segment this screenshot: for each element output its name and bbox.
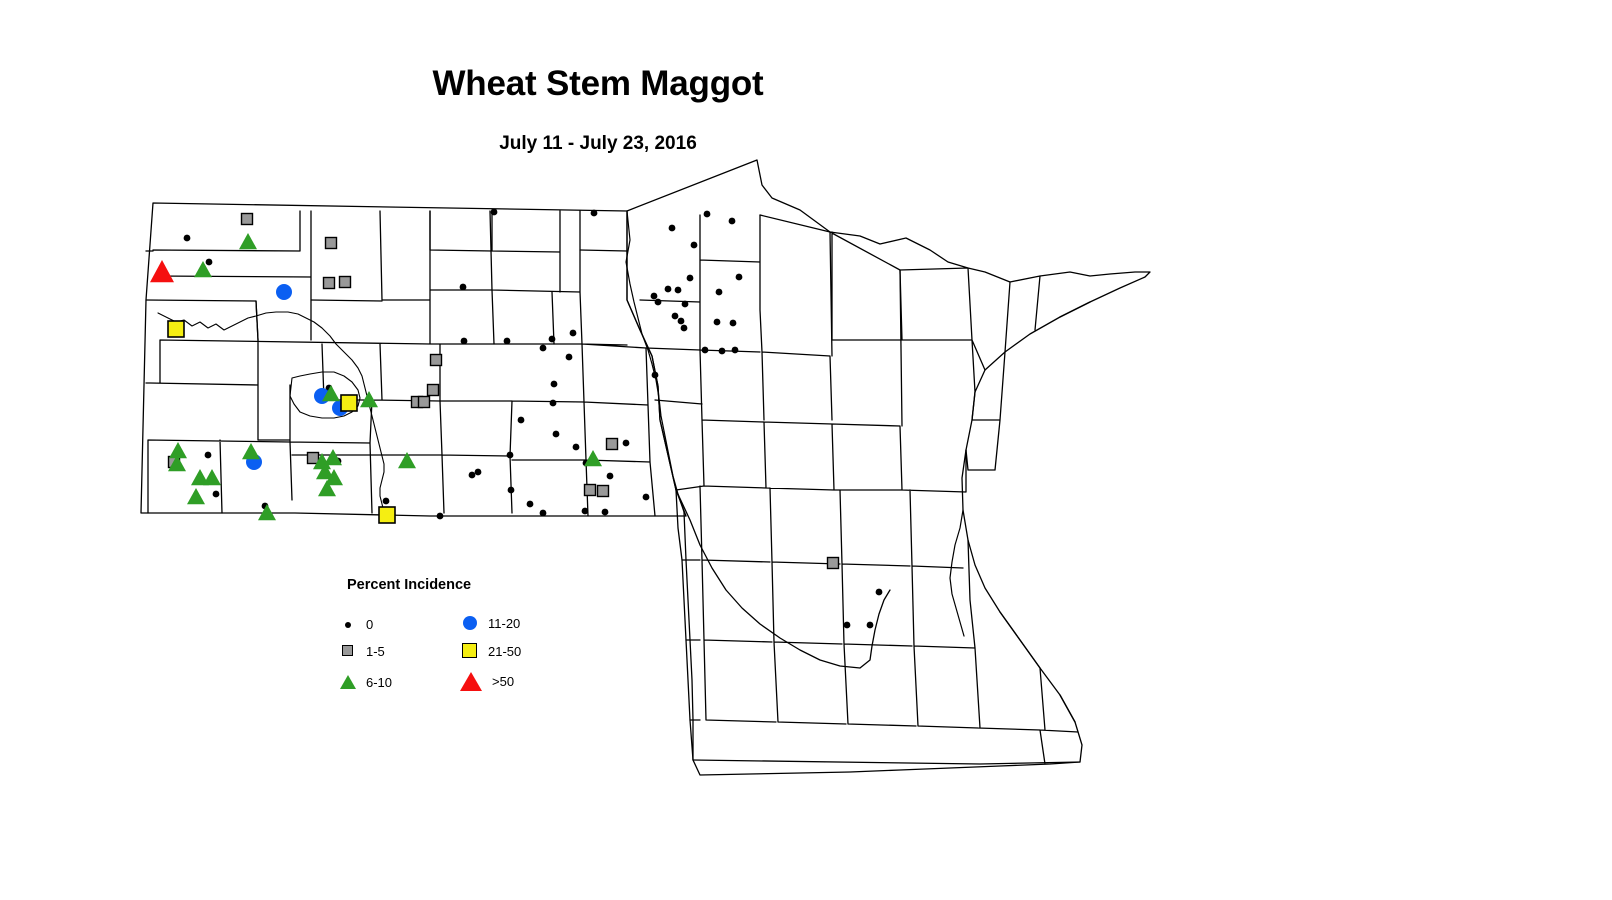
map-marker-gray-square [340,277,351,288]
map-marker-black-dot [437,513,444,520]
map-marker-green-triangle [324,449,342,465]
map-marker-green-triangle [242,443,260,459]
mn-county-lines [640,215,1080,764]
map-marker-black-dot [540,345,547,352]
legend: Percent Incidence 0 1-5 6-10 11-20 21-50… [330,572,590,702]
map-marker-gray-square [324,278,335,289]
map-marker-green-triangle [187,488,205,504]
map-marker-black-dot [681,325,688,332]
map-marker-gray-square [326,238,337,249]
map-marker-black-dot [714,319,721,326]
map-marker-black-dot [682,301,689,308]
map-marker-black-dot [719,348,726,355]
map-marker-black-dot [702,347,709,354]
map-marker-green-triangle [584,450,602,466]
map-marker-gray-square [428,385,439,396]
map-marker-yellow-square [168,321,184,337]
map-marker-black-dot [205,452,212,459]
blue-circle-icon [460,614,482,634]
map-marker-black-dot [736,274,743,281]
map-marker-black-dot [675,287,682,294]
map-marker-gray-square [585,485,596,496]
map-marker-black-dot [876,589,883,596]
map-marker-black-dot [475,469,482,476]
map-marker-black-dot [540,510,547,517]
map-marker-black-dot [206,259,213,266]
map-page: Wheat Stem Maggot July 11 - July 23, 201… [0,0,1612,900]
gray-square-icon [338,642,360,662]
map-marker-black-dot [691,242,698,249]
map-marker-black-dot [652,372,659,379]
map-marker-black-dot [553,431,560,438]
map-marker-black-dot [687,275,694,282]
map-marker-black-dot [643,494,650,501]
mn-north-county-lines [760,215,1005,470]
map-marker-black-dot [672,313,679,320]
map-marker-black-dot [651,293,658,300]
map-marker-gray-square [242,214,253,225]
map-canvas [0,0,1612,900]
map-marker-black-dot [655,299,662,306]
map-marker-black-dot [591,210,598,217]
map-marker-black-dot [213,491,220,498]
map-svg [0,0,1612,900]
map-marker-black-dot [570,330,577,337]
legend-label-21-50: 21-50 [488,644,521,660]
map-marker-gray-square [308,453,319,464]
map-marker-black-dot [607,473,614,480]
map-marker-gray-square [431,355,442,366]
nd-county-lines [146,211,655,516]
map-marker-black-dot [582,508,589,515]
map-marker-black-dot [867,622,874,629]
map-marker-black-dot [460,284,467,291]
red-river [626,211,684,512]
mn-south-border [676,490,890,668]
map-marker-black-dot [704,211,711,218]
map-marker-gray-square [598,486,609,497]
legend-label-11-20: 11-20 [488,616,520,632]
legend-label-1-5: 1-5 [366,644,385,660]
map-marker-black-dot [573,444,580,451]
map-marker-black-dot [669,225,676,232]
map-marker-gray-square [419,397,430,408]
map-marker-black-dot [491,209,498,216]
legend-title: Percent Incidence [347,577,471,593]
mn-arrowhead-lines [1005,276,1090,352]
map-marker-black-dot [844,622,851,629]
map-marker-green-triangle [258,504,276,520]
map-marker-gray-square [828,558,839,569]
map-marker-black-dot [716,289,723,296]
map-marker-black-dot [518,417,525,424]
map-marker-black-dot [602,509,609,516]
green-triangle-icon [338,673,360,693]
legend-label-6-10: 6-10 [366,675,392,691]
map-marker-black-dot [504,338,511,345]
map-marker-black-dot [678,318,685,325]
map-marker-black-dot [730,320,737,327]
map-marker-black-dot [566,354,573,361]
map-marker-black-dot [383,498,390,505]
map-marker-black-dot [729,218,736,225]
map-marker-black-dot [732,347,739,354]
map-marker-black-dot [461,338,468,345]
map-marker-yellow-square [379,507,395,523]
mn-st-croix [950,510,964,636]
black-dot-icon [338,615,360,635]
map-marker-red-triangle [150,260,174,282]
map-marker-black-dot [507,452,514,459]
map-marker-green-triangle [239,233,257,249]
legend-label-0: 0 [366,617,373,633]
map-marker-black-dot [527,501,534,508]
legend-label-over-50: >50 [492,674,514,690]
map-marker-green-triangle [360,391,378,407]
map-marker-black-dot [184,235,191,242]
map-marker-black-dot [469,472,476,479]
map-marker-green-triangle [169,442,187,458]
state-boundaries [141,160,1150,775]
map-marker-yellow-square [341,395,357,411]
map-marker-blue-circle [276,284,292,300]
map-marker-green-triangle [203,469,221,485]
map-marker-black-dot [551,381,558,388]
map-marker-black-dot [550,400,557,407]
yellow-square-icon [460,642,482,662]
map-marker-gray-square [607,439,618,450]
map-marker-black-dot [508,487,515,494]
map-marker-black-dot [623,440,630,447]
map-marker-black-dot [665,286,672,293]
red-triangle-icon [460,672,482,692]
map-marker-black-dot [549,336,556,343]
